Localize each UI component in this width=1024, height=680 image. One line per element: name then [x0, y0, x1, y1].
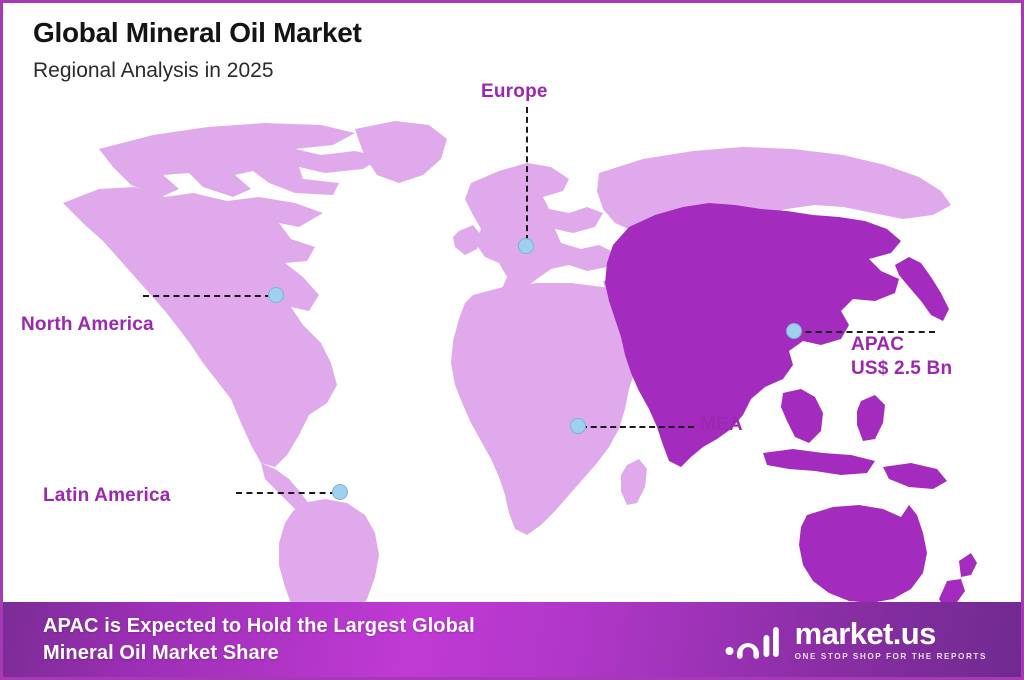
region-label-europe-text: Europe — [481, 80, 548, 104]
region-apac-new-guinea-shape — [883, 463, 947, 489]
market-us-logo-icon — [724, 618, 784, 662]
region-apac-korea-japan-shape — [895, 257, 949, 321]
region-europe-shape — [465, 163, 615, 301]
region-label-europe: Europe — [481, 80, 548, 104]
region-apac-new-zealand-shape — [939, 553, 977, 608]
map-marker-europe[interactable] — [518, 238, 534, 254]
leader-line-mea — [581, 426, 694, 428]
leader-line-europe — [526, 107, 528, 241]
banner-headline: APAC is Expected to Hold the Largest Glo… — [43, 613, 475, 666]
map-marker-north-america[interactable] — [268, 287, 284, 303]
logo-name: market.us — [795, 618, 987, 649]
region-label-latin-america: Latin America — [43, 484, 171, 508]
infographic-frame: Global Mineral Oil Market Regional Analy… — [0, 0, 1024, 680]
leader-line-latin-america — [236, 492, 336, 494]
region-apac-indonesia-shape — [763, 449, 875, 475]
region-label-latin-america-text: Latin America — [43, 484, 171, 508]
region-label-north-america: North America — [21, 313, 154, 337]
map-highlight-regions — [605, 203, 977, 608]
logo-text: market.us ONE STOP SHOP FOR THE REPORTS — [795, 618, 987, 661]
map-marker-apac[interactable] — [786, 323, 802, 339]
map-marker-mea[interactable] — [570, 418, 586, 434]
banner-headline-line2: Mineral Oil Market Share — [43, 640, 475, 666]
header: Global Mineral Oil Market Regional Analy… — [33, 17, 362, 83]
banner-headline-line1: APAC is Expected to Hold the Largest Glo… — [43, 613, 475, 639]
leader-line-north-america — [143, 295, 271, 297]
region-south-america-shape — [279, 499, 379, 608]
region-label-mea: MEA — [700, 413, 743, 437]
bottom-banner: APAC is Expected to Hold the Largest Glo… — [3, 602, 1024, 677]
logo-tagline: ONE STOP SHOP FOR THE REPORTS — [795, 653, 987, 661]
region-north-america-shape — [99, 123, 383, 197]
page-subtitle: Regional Analysis in 2025 — [33, 59, 362, 83]
region-greenland — [355, 121, 447, 183]
map-marker-latin-america[interactable] — [332, 484, 348, 500]
brand-logo[interactable]: market.us ONE STOP SHOP FOR THE REPORTS — [724, 618, 1001, 662]
region-label-north-america-text: North America — [21, 313, 154, 337]
region-label-apac: APAC US$ 2.5 Bn — [851, 333, 952, 381]
region-british-isles — [453, 225, 481, 255]
region-label-mea-text: MEA — [700, 413, 743, 437]
region-apac-philippines-shape — [857, 395, 885, 441]
region-apac-australia-shape — [799, 505, 927, 603]
region-apac-southeast-asia-shape — [781, 389, 823, 443]
region-label-apac-text: APAC — [851, 333, 952, 357]
region-value-apac: US$ 2.5 Bn — [851, 357, 952, 381]
region-madagascar — [621, 459, 647, 505]
page-title: Global Mineral Oil Market — [33, 17, 362, 49]
